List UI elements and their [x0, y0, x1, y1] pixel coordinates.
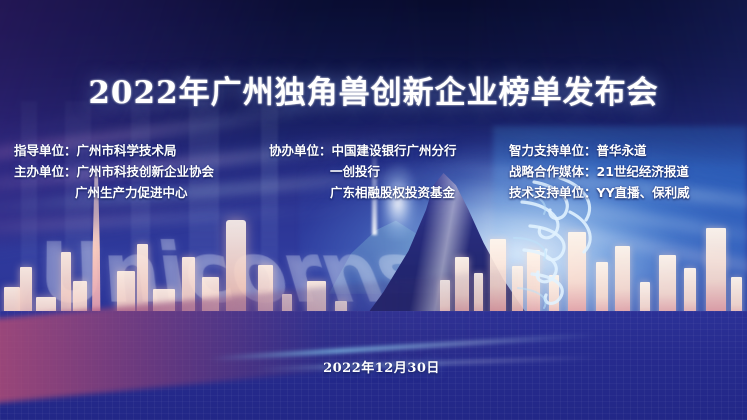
event-date: 2022年12月30日 — [8, 357, 747, 376]
credit-value: 广州市科技创新企业协会 — [77, 164, 215, 179]
credit-row: 技术支持单位：YY直播、保利威 — [509, 182, 733, 203]
credit-row: 战略合作媒体：21世纪经济报道 — [509, 161, 733, 182]
credit-row: 指导单位：广州市科学技术局 — [14, 140, 269, 161]
credit-value: 广州生产力促进中心 — [75, 185, 188, 200]
credit-value: 普华永道 — [597, 143, 647, 158]
content-layer: 2022年广州独角兽创新企业榜单发布会 指导单位：广州市科学技术局 主办单位：广… — [0, 0, 747, 420]
poster-canvas: Unicorns — [0, 0, 747, 420]
credit-value: 广东相融股权投资基金 — [330, 185, 455, 200]
credits-column-left: 指导单位：广州市科学技术局 主办单位：广州市科技创新企业协会 广州生产力促进中心 — [14, 140, 269, 203]
credit-value: 一创投行 — [330, 164, 380, 179]
credit-row: 协办单位：中国建设银行广州分行 — [269, 140, 509, 161]
credit-row: 主办单位：广州市科技创新企业协会 — [14, 161, 269, 182]
credit-value: 中国建设银行广州分行 — [332, 143, 457, 158]
credit-value: 广州市科学技术局 — [77, 143, 177, 158]
credit-value: 21世纪经济报道 — [597, 164, 689, 179]
credits-column-right: 智力支持单位：普华永道 战略合作媒体：21世纪经济报道 技术支持单位：YY直播、… — [509, 140, 733, 203]
credits-column-middle: 协办单位：中国建设银行广州分行 一创投行 广东相融股权投资基金 — [269, 140, 509, 203]
credit-label: 智力支持单位： — [509, 143, 597, 158]
credit-row: 广州生产力促进中心 — [14, 182, 269, 203]
credit-label: 战略合作媒体： — [509, 164, 597, 179]
credit-row: 广东相融股权投资基金 — [269, 182, 509, 203]
credit-row: 一创投行 — [269, 161, 509, 182]
credit-label: 协办单位： — [269, 143, 332, 158]
credit-value: YY直播、保利威 — [597, 185, 690, 200]
credit-label: 技术支持单位： — [509, 185, 597, 200]
credit-label: 主办单位： — [14, 164, 77, 179]
credit-row: 智力支持单位：普华永道 — [509, 140, 733, 161]
poster-title: 2022年广州独角兽创新企业榜单发布会 — [0, 67, 747, 112]
credits-block: 指导单位：广州市科学技术局 主办单位：广州市科技创新企业协会 广州生产力促进中心… — [0, 140, 747, 203]
credit-label: 指导单位： — [14, 143, 77, 158]
